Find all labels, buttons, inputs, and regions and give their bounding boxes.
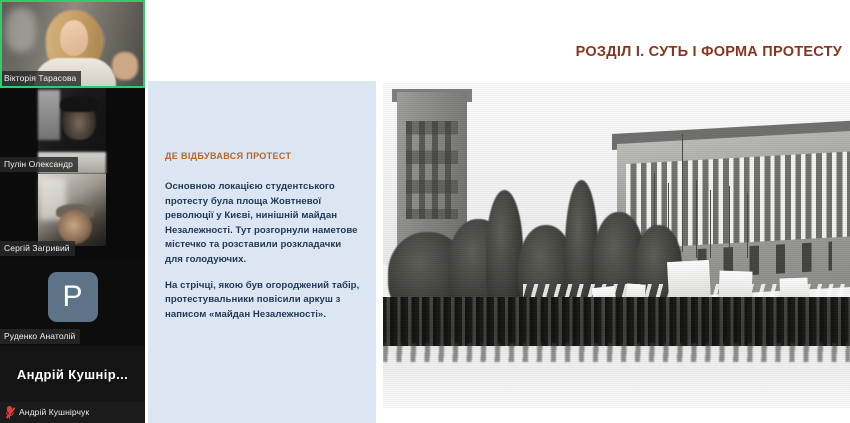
participant-hand <box>112 52 138 80</box>
background-light <box>6 8 36 52</box>
slide-title: РОЗДІЛ І. СУТЬ І ФОРМА ПРОТЕСТУ <box>576 44 842 60</box>
panel-paragraph-2: На стрічці, якою був огороджений табір, … <box>165 279 360 323</box>
flag-pole <box>710 190 711 258</box>
flag-pole <box>747 193 748 258</box>
car-window <box>38 90 60 140</box>
participant-name-4: Руденко Анатолій <box>0 329 80 344</box>
participant-cap <box>60 96 98 112</box>
protest-crowd <box>383 297 850 346</box>
participant-name-1: Вікторія Тарасова <box>0 71 81 86</box>
panel-heading: ДЕ ВІДБУВАВСЯ ПРОТЕСТ <box>165 151 360 161</box>
participant-tile-2[interactable]: Пулін Олександр <box>0 88 145 174</box>
participant-tile-5[interactable]: Андрій Кушнір... <box>0 346 145 402</box>
flag-pole <box>729 186 730 258</box>
avatar: Р <box>48 272 98 322</box>
flag-pole <box>682 134 683 251</box>
flag-pole <box>696 180 697 258</box>
shared-slide: РОЗДІЛ І. СУТЬ І ФОРМА ПРОТЕСТУ ДЕ ВІДБУ… <box>145 0 850 423</box>
active-speaker-statusbar: Андрій Кушнірчук <box>0 402 145 423</box>
participant-name-3: Сергій Загривий <box>0 241 75 256</box>
participant-name-2: Пулін Олександр <box>0 157 78 172</box>
panel-paragraph-1: Основною локацією студентського протесту… <box>165 180 360 268</box>
participant-head <box>58 210 92 244</box>
tree <box>486 190 523 314</box>
participant-face <box>60 20 88 56</box>
video-conference-screen-share: Вікторія Тарасова Пулін Олександр Сергій… <box>0 0 850 423</box>
participant-tile-4[interactable]: Р Руденко Анатолій <box>0 258 145 346</box>
historical-protest-photograph <box>383 82 850 408</box>
slide-text-panel: ДЕ ВІДБУВАВСЯ ПРОТЕСТ Основною локацією … <box>148 81 376 423</box>
participant-filmstrip: Вікторія Тарасова Пулін Олександр Сергій… <box>0 0 145 423</box>
participant-tile-3[interactable]: Сергій Загривий <box>0 174 145 258</box>
crowd-shadows <box>383 343 850 363</box>
participant-name-5: Андрій Кушнір... <box>0 346 145 402</box>
tower-windows <box>406 121 457 219</box>
protest-banner <box>667 260 711 301</box>
statusbar-speaker-name: Андрій Кушнірчук <box>19 407 89 418</box>
microphone-muted-icon <box>5 406 14 419</box>
participant-tile-1[interactable]: Вікторія Тарасова <box>0 0 145 88</box>
